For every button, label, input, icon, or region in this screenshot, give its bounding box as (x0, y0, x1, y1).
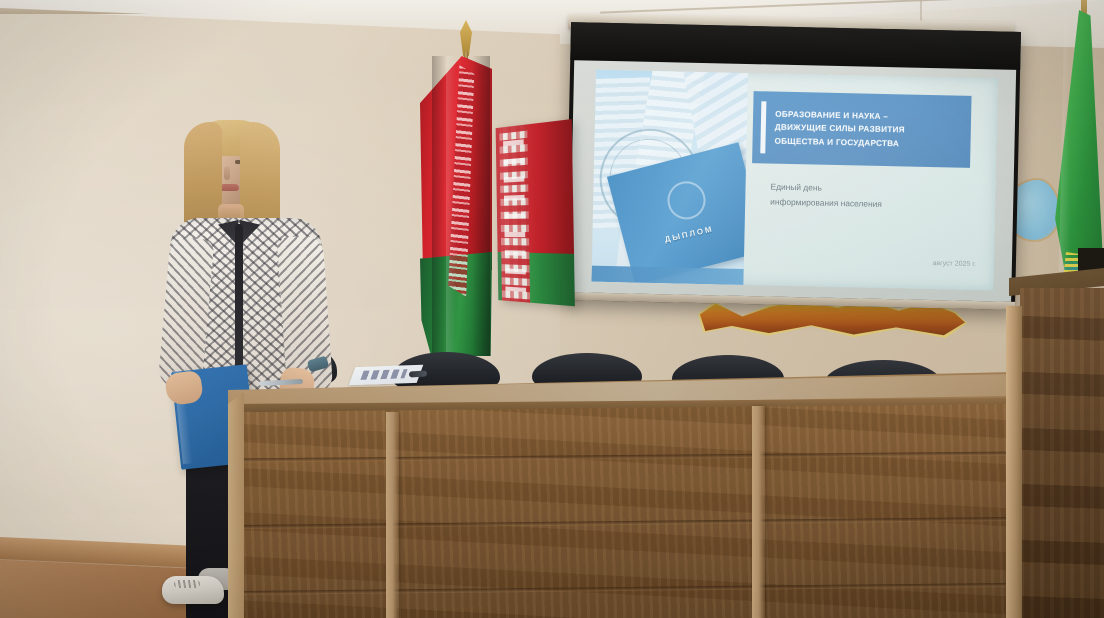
belarus-flag-wall (496, 119, 575, 306)
slide-body: ОБРАЗОВАНИЕ И НАУКА – ДВИЖУЩИЕ СИЛЫ РАЗВ… (743, 73, 998, 290)
table-marker (409, 370, 427, 377)
podium-edge-pilaster (1006, 306, 1022, 618)
projection-screen: ДЫПЛОМ ОБРАЗОВАНИЕ И НАУКА – ДВИЖУЩИЕ СИ… (565, 22, 1021, 310)
presenter-mouth (220, 184, 239, 191)
presenter-shoe-laces (174, 580, 200, 588)
diploma-seal-icon (663, 177, 709, 223)
belarus-flag-on-pole (420, 56, 492, 356)
screen-canvas: ДЫПЛОМ ОБРАЗОВАНИЕ И НАУКА – ДВИЖУЩИЕ СИ… (569, 60, 1016, 302)
slide-photo: ДЫПЛОМ (591, 70, 748, 285)
flag-fold-shadow (472, 56, 490, 356)
flag-fold-shadow (432, 56, 446, 356)
presentation-slide: ДЫПЛОМ ОБРАЗОВАНИЕ И НАУКА – ДВИЖУЩИЕ СИ… (591, 70, 998, 291)
slide-title-block: ОБРАЗОВАНИЕ И НАУКА – ДВИЖУЩИЕ СИЛЫ РАЗВ… (752, 91, 972, 168)
slide-title-accent-bar (760, 101, 766, 153)
document-text-lines (360, 369, 407, 380)
flag-highlight (446, 56, 456, 356)
table-side-cap (228, 392, 244, 618)
slide-photo-bottom-band (591, 266, 743, 285)
presenter-nose (224, 166, 230, 180)
slide-date: август 2025 г. (932, 260, 976, 268)
podium-wood-grain (1020, 288, 1104, 618)
slide-subtitle: Единый день информирования населения (770, 180, 882, 212)
table-panel-divider (752, 406, 765, 618)
table-panel-divider (386, 412, 399, 618)
slide-title: ОБРАЗОВАНИЕ И НАУКА – ДВИЖУЩИЕ СИЛЫ РАЗВ… (774, 108, 905, 151)
photo-scene: ДЫПЛОМ ОБРАЗОВАНИЕ И НАУКА – ДВИЖУЩИЕ СИ… (0, 0, 1104, 618)
diploma-caption: ДЫПЛОМ (664, 224, 715, 244)
flag-shading (496, 119, 575, 306)
